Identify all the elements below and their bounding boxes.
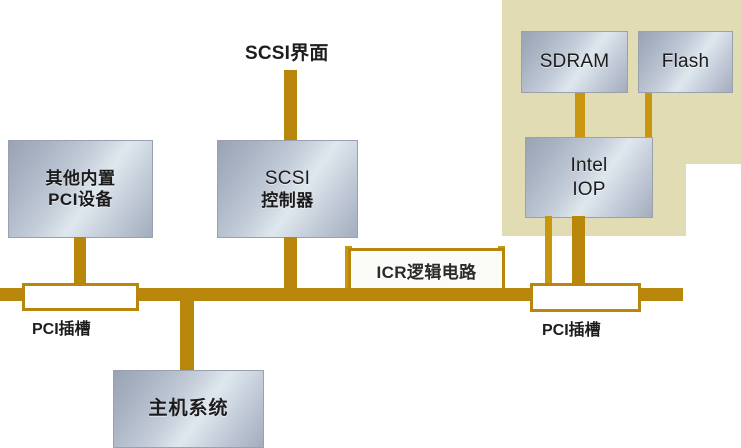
wire-flash-to-iop <box>645 92 652 142</box>
diagram-canvas: SDRAM Flash Intel IOP SCSI界面 SCSI 控制器 其他… <box>0 0 741 448</box>
node-host-system: 主机系统 <box>113 370 264 448</box>
node-flash-label: Flash <box>662 50 709 74</box>
pci-slot-right <box>530 283 641 312</box>
node-other-pci-device-label-line2: PCI设备 <box>48 189 113 210</box>
node-sdram-label: SDRAM <box>540 50 610 74</box>
wire-sdram-to-iop <box>575 92 585 142</box>
pci-slot-left <box>22 283 139 311</box>
node-scsi-controller-label-line2: 控制器 <box>261 190 314 211</box>
node-intel-iop-label-line2: IOP <box>572 178 605 202</box>
node-icr-logic: ICR逻辑电路 <box>348 248 505 293</box>
wire-bus-to-host <box>180 299 194 372</box>
node-sdram: SDRAM <box>521 31 628 93</box>
node-flash: Flash <box>638 31 733 93</box>
node-host-system-label: 主机系统 <box>148 397 228 421</box>
node-scsi-controller-label-line1: SCSI <box>265 167 310 191</box>
pci-slot-right-label: PCI插槽 <box>542 316 601 340</box>
node-icr-logic-label: ICR逻辑电路 <box>376 258 476 283</box>
pci-slot-left-label: PCI插槽 <box>32 315 91 339</box>
node-intel-iop: Intel IOP <box>525 137 653 218</box>
node-intel-iop-label-line1: Intel <box>571 154 608 178</box>
wire-other-pci-to-slot <box>74 237 86 287</box>
node-scsi-controller: SCSI 控制器 <box>217 140 358 238</box>
node-other-pci-device-label-line1: 其他内置 <box>46 168 116 189</box>
node-other-pci-device: 其他内置 PCI设备 <box>8 140 153 238</box>
scsi-interface-label: SCSI界面 <box>245 38 329 65</box>
wire-scsi-interface-stem <box>284 70 297 142</box>
